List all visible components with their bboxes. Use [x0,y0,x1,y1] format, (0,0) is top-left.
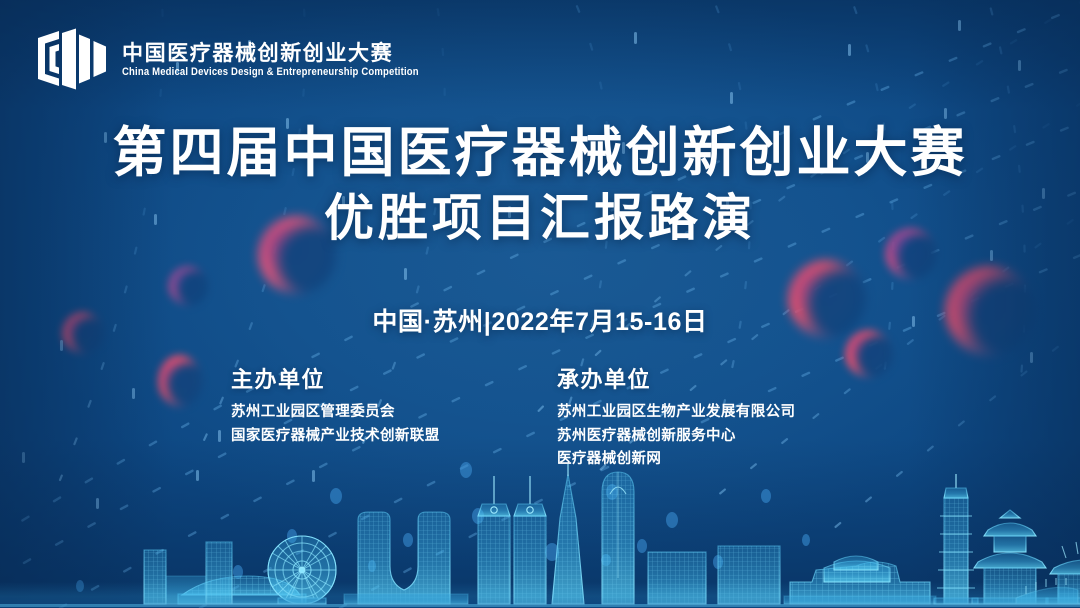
organizer-unit: 苏州工业园区生物产业发展有限公司 [557,401,857,424]
organizer-role-label: 主办单位 [231,368,531,392]
rounded-crown-tower [602,472,634,604]
suzhou-city-skyline [0,458,1080,608]
brand-logo: 中国医疗器械创新创业大赛 China Medical Devices Desig… [36,28,419,90]
logo-chinese-name: 中国医疗器械创新创业大赛 [122,43,419,66]
organizer-role-label: 承办单位 [557,368,857,392]
organizer-unit: 苏州工业园区管理委员会 [231,401,531,424]
ferris-wheel [268,536,336,604]
title-line-2: 优胜项目汇报路演 [0,186,1080,251]
grid-office-block-a [648,552,706,604]
organizer-unit: 苏州医疗器械创新服务中心 [557,425,857,448]
poster-title: 第四届中国医疗器械创新创业大赛 优胜项目汇报路演 [0,122,1080,251]
exhibition-hall [784,556,936,604]
organizers-section: 主办单位 苏州工业园区管理委员会 国家医疗器械产业技术创新联盟 承办单位 苏州工… [0,368,1080,472]
organizer-group-coorganizer: 承办单位 苏州工业园区生物产业发展有限公司 苏州医疗器械创新服务中心 医疗器械创… [531,368,857,472]
grid-office-block-b [718,546,780,604]
organizer-unit: 国家医疗器械产业技术创新联盟 [231,425,531,448]
event-location-date: 中国·苏州|2022年7月15-16日 [0,302,1080,338]
poster-canvas: 中国医疗器械创新创业大赛 China Medical Devices Desig… [0,0,1080,608]
twin-antenna-towers [478,476,546,604]
organizer-group-host: 主办单位 苏州工业园区管理委员会 国家医疗器械产业技术创新联盟 [223,368,531,472]
logo-english-name: China Medical Devices Design & Entrepren… [122,67,419,79]
title-line-1: 第四届中国医疗器械创新创业大赛 [0,122,1080,186]
temple-hall [972,510,1048,604]
decor-orb [168,266,208,306]
open-door-window-logo-icon [36,28,108,90]
tapered-spire-tower [552,464,584,604]
gate-of-the-orient [344,512,468,604]
twin-block-buildings [144,542,232,604]
pagoda [934,474,978,604]
